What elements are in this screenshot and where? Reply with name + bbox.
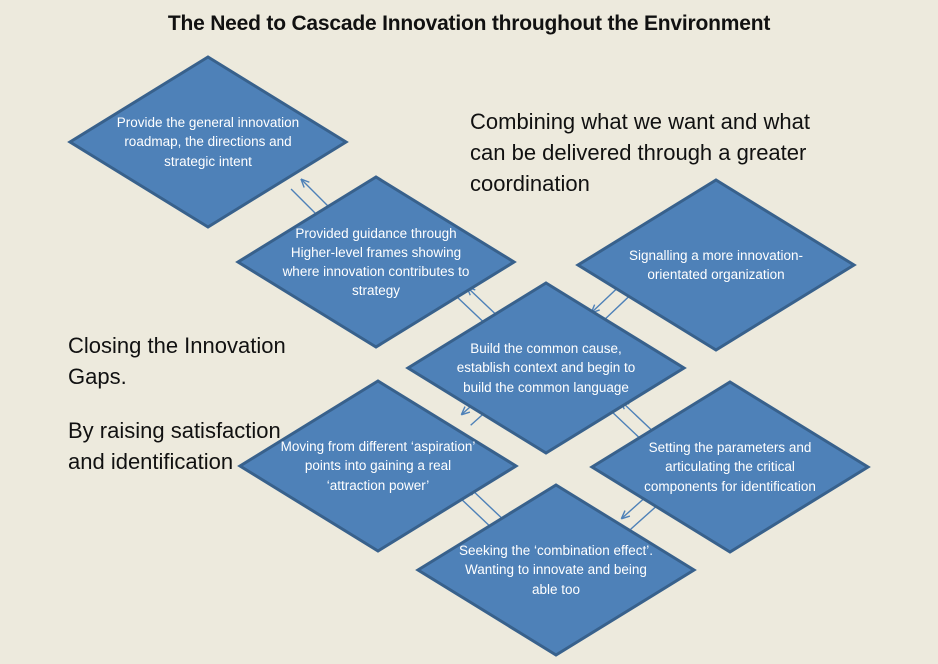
diamond-node-combination[interactable]: Seeking the ‘combination effect’. Wantin… [416,483,696,657]
page-title: The Need to Cascade Innovation throughou… [0,12,938,36]
diagram-canvas: The Need to Cascade Innovation throughou… [0,0,938,664]
diamond-shape [416,483,696,657]
